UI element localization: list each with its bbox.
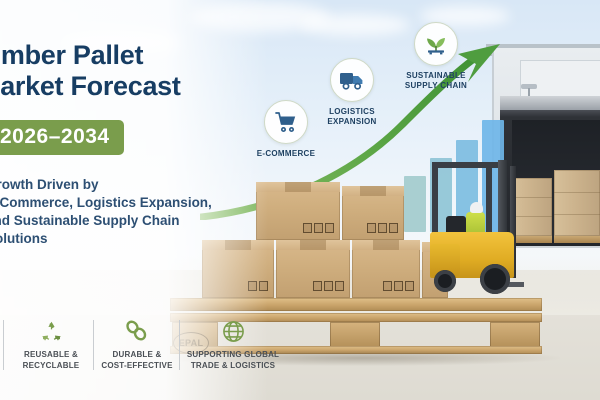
feature-label-line-2: TRADE & LOGISTICS: [184, 360, 282, 371]
feature-icon-wrap: [184, 318, 282, 344]
badge-label-line-2: SUPPLY CHAIN: [390, 81, 482, 91]
badge-label-line-1: LOGISTICS: [310, 107, 394, 117]
feature-label: REUSABLE & RECYCLABLE: [12, 349, 90, 371]
delivery-truck-icon: [339, 69, 365, 91]
feature-label: SUPPORTING GLOBAL TRADE & LOGISTICS: [184, 349, 282, 371]
globe-icon: [221, 319, 246, 344]
subtitle-line-1: Growth Driven by: [0, 176, 236, 194]
forklift: [424, 158, 536, 308]
badge-label: E-COMMERCE: [246, 149, 326, 159]
feature-label-line-2: RECYCLABLE: [12, 360, 90, 371]
feature-icon-wrap: [12, 318, 90, 344]
forklift-wheel: [434, 270, 456, 292]
badge-label-line-2: EXPANSION: [310, 117, 394, 127]
subtitle-line-3: and Sustainable Supply Chain: [0, 212, 236, 230]
year-range-badge: 2026–2034: [0, 120, 124, 155]
feature-global-trade: SUPPORTING GLOBAL TRADE & LOGISTICS: [180, 318, 286, 371]
cardboard-box: [256, 182, 340, 240]
feature-reusable-recyclable: REUSABLE & RECYCLABLE: [8, 318, 94, 371]
feature-icon-wrap: [98, 318, 176, 344]
subtitle: Growth Driven by E-Commerce, Logistics E…: [0, 176, 236, 248]
shopping-cart-icon: [274, 110, 298, 134]
badge-label-line-1: SUSTAINABLE: [390, 71, 482, 81]
badge-label: SUSTAINABLE SUPPLY CHAIN: [390, 71, 482, 91]
feature-label-line-1: REUSABLE &: [12, 349, 90, 360]
badge-label-line-1: E-COMMERCE: [246, 149, 326, 159]
subtitle-line-2: E-Commerce, Logistics Expansion,: [0, 194, 236, 212]
feature-strip: REUSABLE & RECYCLABLE DURABLE & COST-EFF…: [8, 318, 286, 371]
headline-line-2: Market Forecast: [0, 71, 248, 102]
subtitle-line-4: Solutions: [0, 230, 236, 248]
driver-badge-logistics-expansion: LOGISTICS EXPANSION: [310, 58, 394, 127]
feature-label-line-2: COST-EFFECTIVE: [98, 360, 176, 371]
seedling-icon: [423, 32, 449, 56]
recycle-icon: [39, 319, 64, 344]
feature-label-line-1: DURABLE &: [98, 349, 176, 360]
forklift-guard-post: [486, 162, 492, 232]
feature-durable-cost-effective: DURABLE & COST-EFFECTIVE: [94, 318, 180, 371]
badge-ring: [330, 58, 374, 102]
forklift-wheel: [480, 264, 510, 294]
infographic-poster: EPAL Timber Pallet Market Forecast 2026–…: [0, 0, 600, 400]
pallet-block: [330, 322, 380, 348]
chain-link-icon: [124, 319, 150, 343]
palletized-load: [554, 170, 600, 236]
feature-label-line-1: SUPPORTING GLOBAL: [184, 349, 282, 360]
feature-label: DURABLE & COST-EFFECTIVE: [98, 349, 176, 371]
driver-badge-sustainable-supply-chain: SUSTAINABLE SUPPLY CHAIN: [390, 22, 482, 91]
badge-ring: [414, 22, 458, 66]
hard-hat-icon: [470, 202, 483, 213]
headline-line-1: Timber Pallet: [0, 40, 248, 71]
forklift-guard-post: [432, 162, 438, 236]
load-pallet: [554, 236, 600, 243]
badge-ring: [264, 100, 308, 144]
pallet-block: [490, 322, 540, 348]
badge-label: LOGISTICS EXPANSION: [310, 107, 394, 127]
page-title: Timber Pallet Market Forecast: [0, 40, 248, 102]
cardboard-box: [342, 186, 404, 240]
